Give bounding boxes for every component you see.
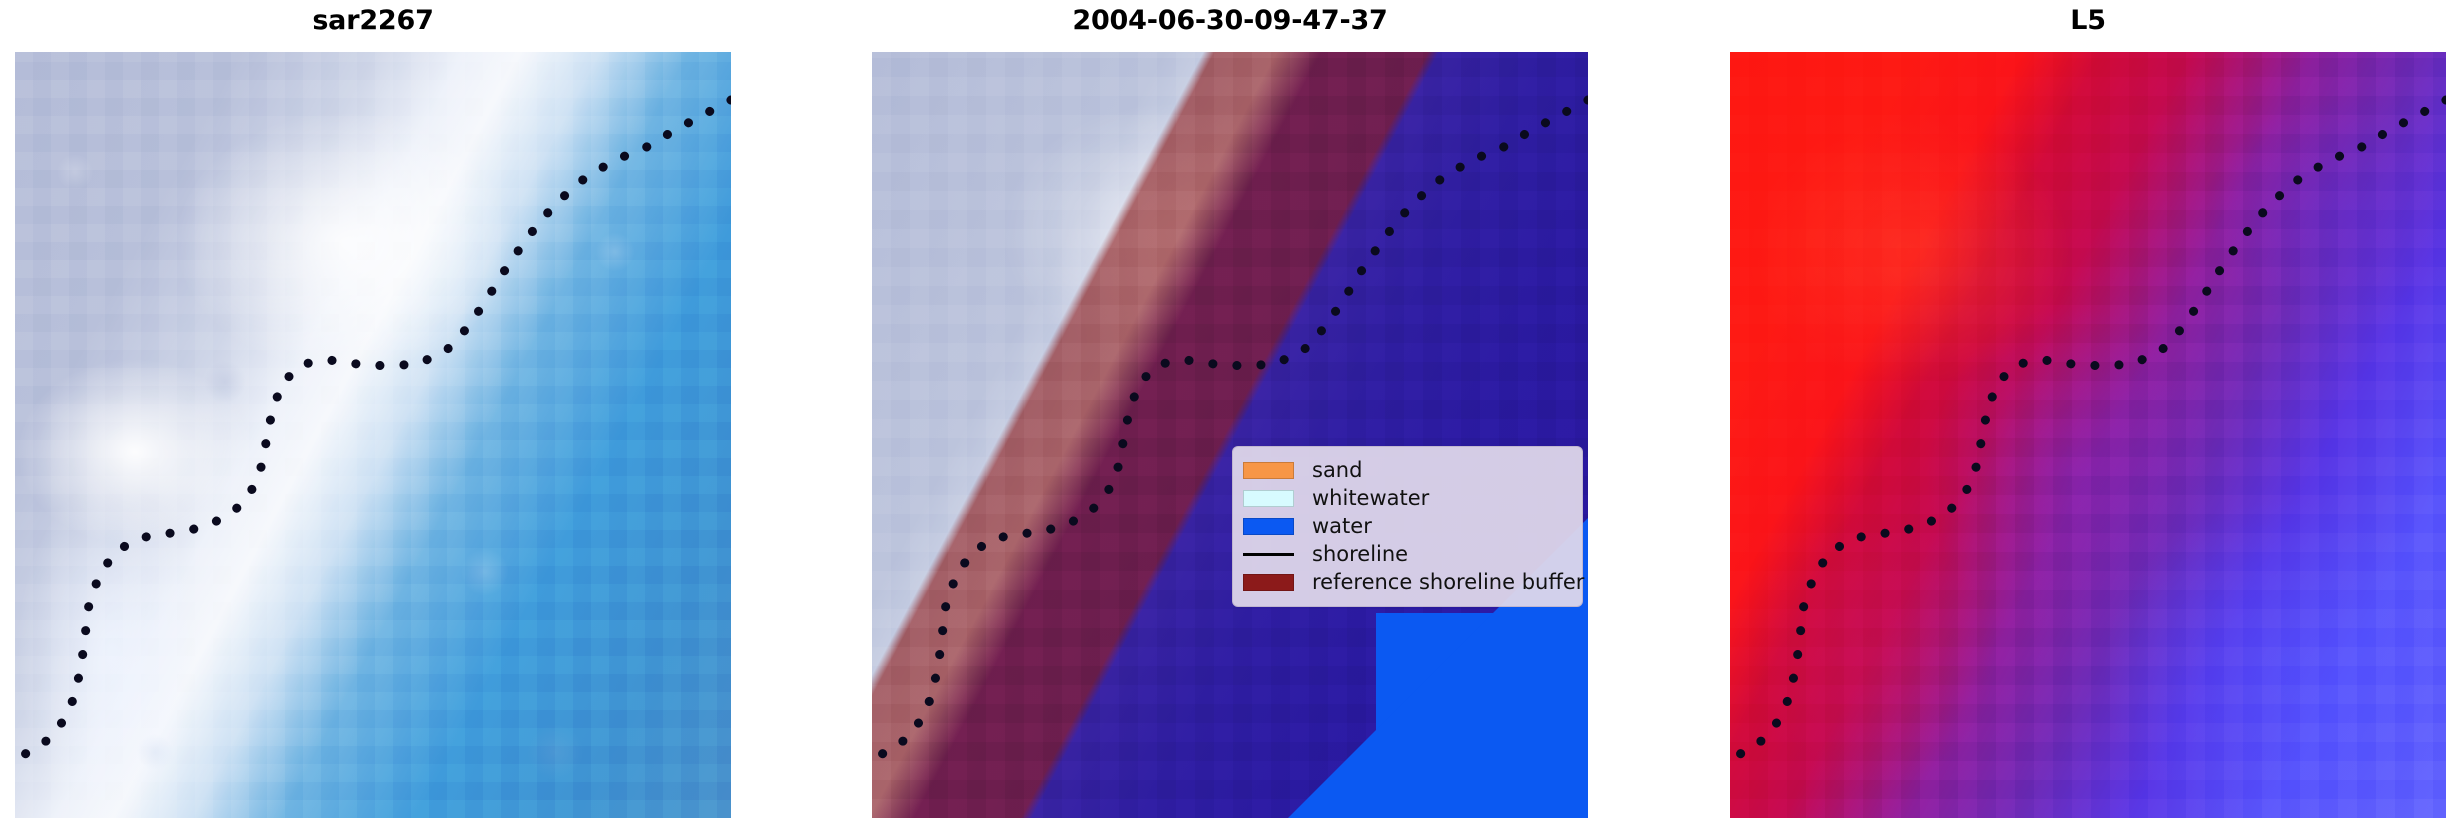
legend-item-reference-buffer: reference shoreline buffer bbox=[1243, 568, 1572, 596]
water-swatch-icon bbox=[1243, 518, 1294, 535]
legend-label-reference-buffer: reference shoreline buffer bbox=[1312, 570, 1584, 594]
panel-title-sar: sar2267 bbox=[15, 4, 731, 38]
legend-item-shoreline: shoreline bbox=[1243, 540, 1572, 568]
legend-label-water: water bbox=[1312, 514, 1372, 538]
legend-label-shoreline: shoreline bbox=[1312, 542, 1408, 566]
map-legend: sand whitewater water shoreline referenc… bbox=[1232, 446, 1583, 607]
legend-item-water: water bbox=[1243, 512, 1572, 540]
reference-buffer-swatch-icon bbox=[1243, 574, 1294, 591]
index-image-panel[interactable] bbox=[1730, 52, 2446, 818]
legend-label-sand: sand bbox=[1312, 458, 1362, 482]
legend-item-sand: sand bbox=[1243, 456, 1572, 484]
index-raster-pixelation bbox=[1730, 52, 2446, 818]
legend-label-whitewater: whitewater bbox=[1312, 486, 1429, 510]
shoreline-line-icon bbox=[1243, 546, 1294, 563]
whitewater-swatch-icon bbox=[1243, 490, 1294, 507]
panel-title-sensor: L5 bbox=[1730, 4, 2446, 38]
figure-canvas: sar2267 2004-06-30-09-47-37 L5 san bbox=[0, 0, 2460, 836]
sand-swatch-icon bbox=[1243, 462, 1294, 479]
legend-item-whitewater: whitewater bbox=[1243, 484, 1572, 512]
classified-image-panel[interactable] bbox=[872, 52, 1588, 818]
panel-title-date: 2004-06-30-09-47-37 bbox=[872, 4, 1588, 38]
sar-image-panel[interactable] bbox=[15, 52, 731, 818]
sar-raster-speckle bbox=[15, 52, 731, 818]
